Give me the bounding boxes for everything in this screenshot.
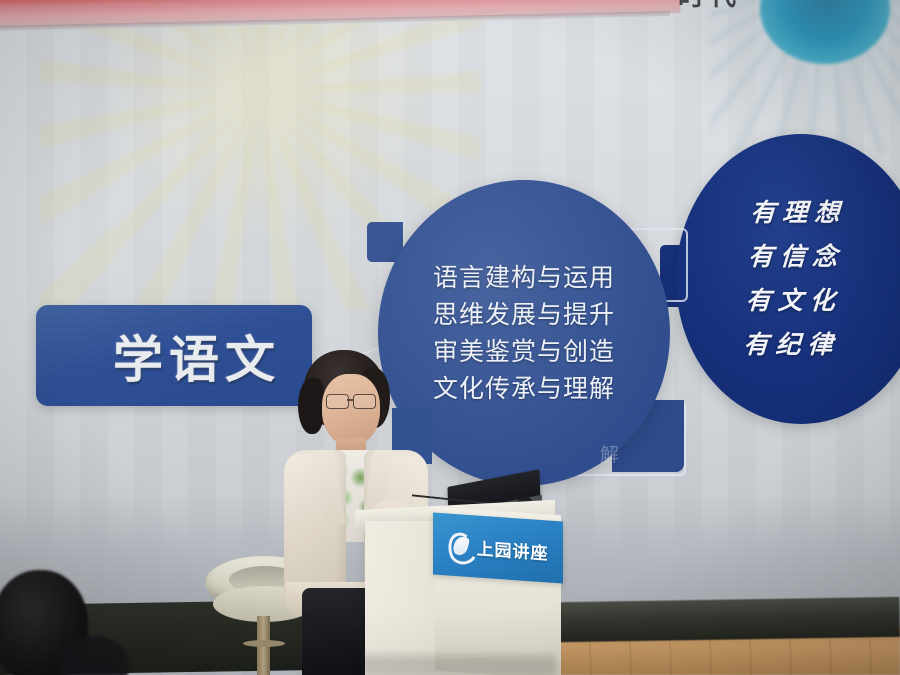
right-circle-line-3: 有文化 <box>745 279 843 323</box>
podium-sign-label: 上园讲座 <box>477 534 549 564</box>
speaker-hair-side <box>298 378 324 434</box>
center-circle-line-4: 文化传承与理解 <box>433 370 615 407</box>
left-banner-label: 学语文 <box>67 320 281 392</box>
right-circle-line-1: 有理想 <box>749 191 847 235</box>
center-circle-line-2: 思维发展与提升 <box>433 296 615 333</box>
faded-character: 解 <box>600 440 619 467</box>
podium-sign: 上园讲座 <box>433 512 563 583</box>
photo-stage: 时代 学语文 有理想 有信念 有文化 有纪律 语言建构与运用 思维发展与提升 审… <box>0 0 900 675</box>
flower-veil <box>680 0 900 144</box>
teal-flower-graphic <box>720 0 900 114</box>
cropped-title-text: 时代 <box>678 0 742 10</box>
right-circle-line-4: 有纪律 <box>742 323 840 367</box>
right-circle-line-2: 有信念 <box>747 235 845 279</box>
glasses-lens-left <box>326 394 349 409</box>
swan-logo-icon <box>448 529 472 561</box>
speaker-glasses <box>326 394 378 407</box>
center-circle-line-1: 语言建构与运用 <box>433 259 615 296</box>
glasses-lens-right <box>353 394 376 409</box>
center-circle-line-3: 审美鉴赏与创造 <box>433 333 615 370</box>
right-circle-text: 有理想 有信念 有文化 有纪律 <box>742 191 847 367</box>
podium: 上园讲座 <box>355 505 555 675</box>
podium-shadow <box>361 655 557 675</box>
speaker-face <box>322 374 380 446</box>
center-circle-text: 语言建构与运用 思维发展与提升 审美鉴赏与创造 文化传承与理解 <box>433 259 615 407</box>
